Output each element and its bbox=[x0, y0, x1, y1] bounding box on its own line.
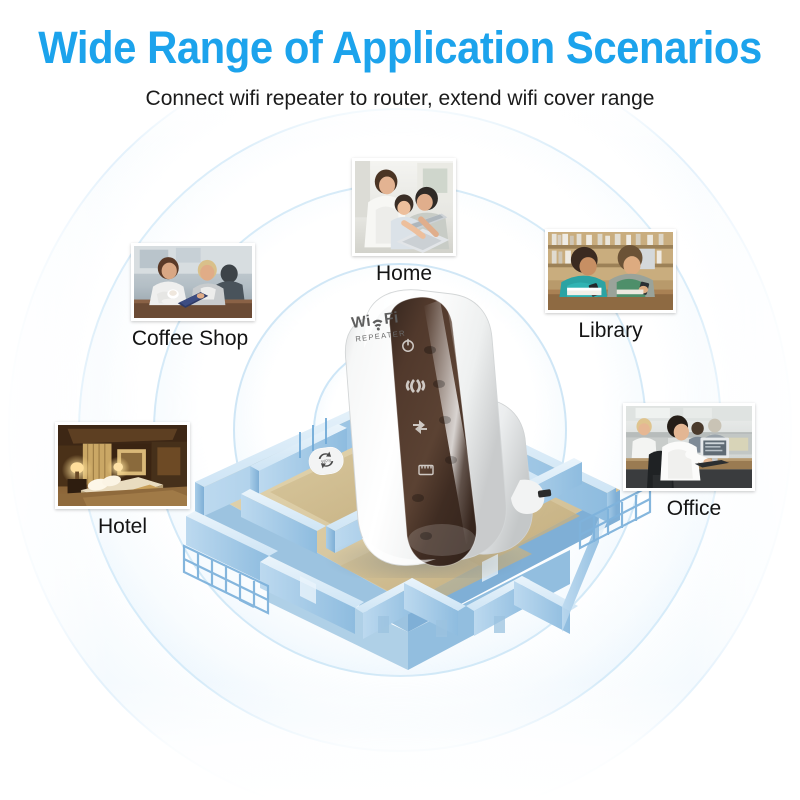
page-title: Wide Range of Application Scenarios bbox=[28, 22, 772, 74]
office-photo bbox=[623, 403, 755, 491]
svg-text:Wi: Wi bbox=[350, 313, 372, 332]
scenario-card-office: Office bbox=[623, 403, 755, 522]
svg-text:Fi: Fi bbox=[383, 309, 400, 328]
library-photo bbox=[545, 229, 676, 313]
hotel-photo bbox=[55, 422, 190, 509]
scenario-card-library: Library bbox=[545, 229, 676, 344]
scenario-card-hotel: Hotel bbox=[55, 422, 190, 540]
scenario-label-office: Office bbox=[633, 496, 755, 522]
scenario-card-coffee-shop: Coffee Shop bbox=[131, 243, 255, 352]
product-marketing-image: Wi Fi REPEATER WPS bbox=[0, 0, 800, 800]
page-subtitle: Connect wifi repeater to router, extend … bbox=[0, 85, 800, 113]
scenario-label-library: Library bbox=[545, 318, 676, 344]
coffee-shop-photo bbox=[131, 243, 255, 321]
scenario-label-home: Home bbox=[352, 261, 456, 287]
scenario-card-home: Home bbox=[352, 158, 456, 287]
ring-fade-right bbox=[690, 0, 800, 800]
wifi-repeater-device: Wi Fi REPEATER WPS bbox=[306, 288, 556, 578]
ring-fade-left bbox=[0, 0, 110, 800]
home-photo bbox=[352, 158, 456, 256]
scenario-label-coffee-shop: Coffee Shop bbox=[125, 326, 255, 352]
scenario-label-hotel: Hotel bbox=[55, 514, 190, 540]
